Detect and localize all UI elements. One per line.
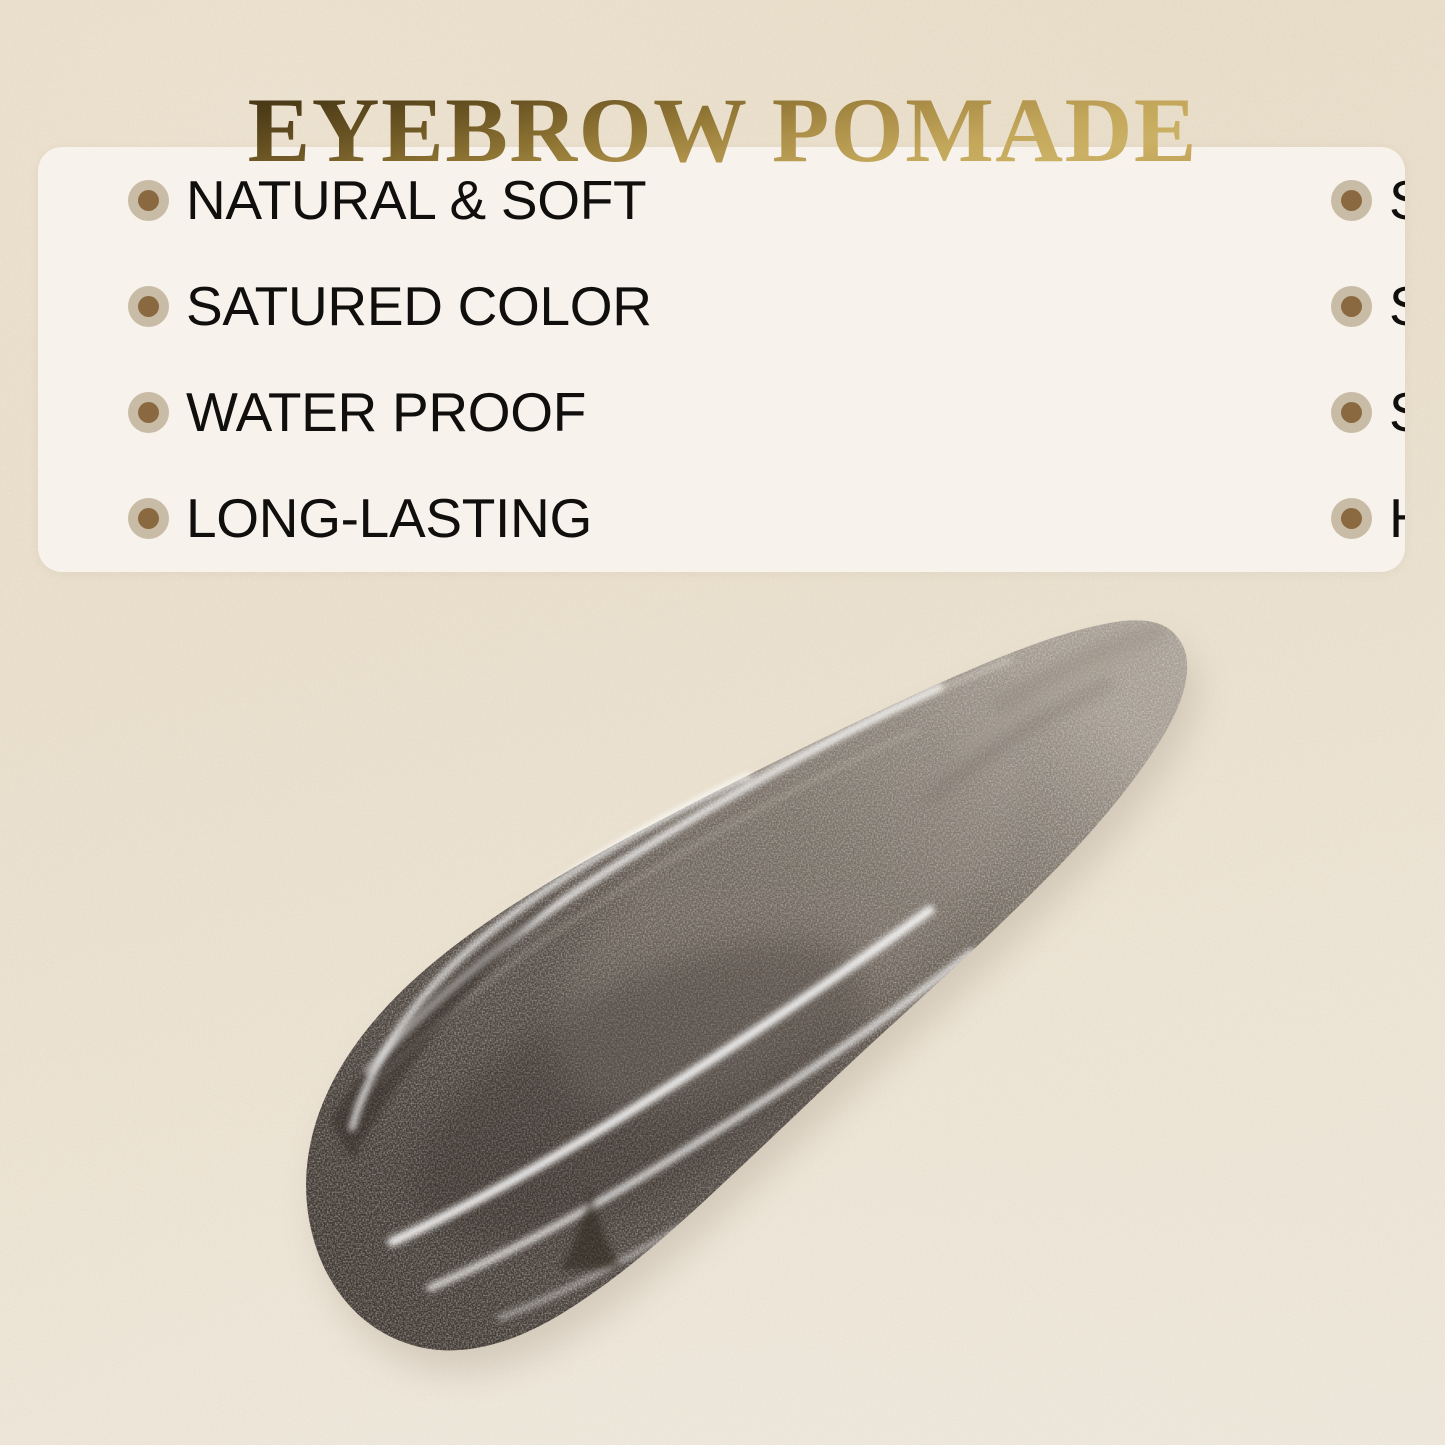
feature-label: SLIDE SMOOTHLY	[1389, 279, 1405, 334]
feature-label: WATER PROOF	[186, 385, 586, 440]
bullet-icon	[128, 392, 169, 433]
feature-item: SMUDGE PROOF	[705, 359, 1405, 465]
bullet-icon	[1331, 498, 1372, 539]
bullet-icon	[1331, 392, 1372, 433]
feature-item: SATURED COLOR	[38, 253, 705, 359]
bullet-icon	[128, 498, 169, 539]
feature-label: SATURED COLOR	[186, 279, 652, 334]
feature-label: SMUDGE PROOF	[1389, 385, 1405, 440]
feature-item: LONG-LASTING	[38, 465, 705, 571]
product-infographic: EYEBROW POMADE NATURAL & SOFT STAY ALL D…	[0, 0, 1445, 1445]
title-container: EYEBROW POMADE	[0, 22, 1445, 237]
feature-label: LONG-LASTING	[186, 491, 592, 546]
page-title: EYEBROW POMADE	[247, 84, 1197, 176]
feature-item: HIGH-PIGMENT FORMULA	[705, 465, 1405, 571]
bullet-icon	[1331, 286, 1372, 327]
feature-item: WATER PROOF	[38, 359, 705, 465]
bullet-icon	[128, 286, 169, 327]
feature-item: SLIDE SMOOTHLY	[705, 253, 1405, 359]
feature-label: HIGH-PIGMENT FORMULA	[1389, 491, 1405, 546]
